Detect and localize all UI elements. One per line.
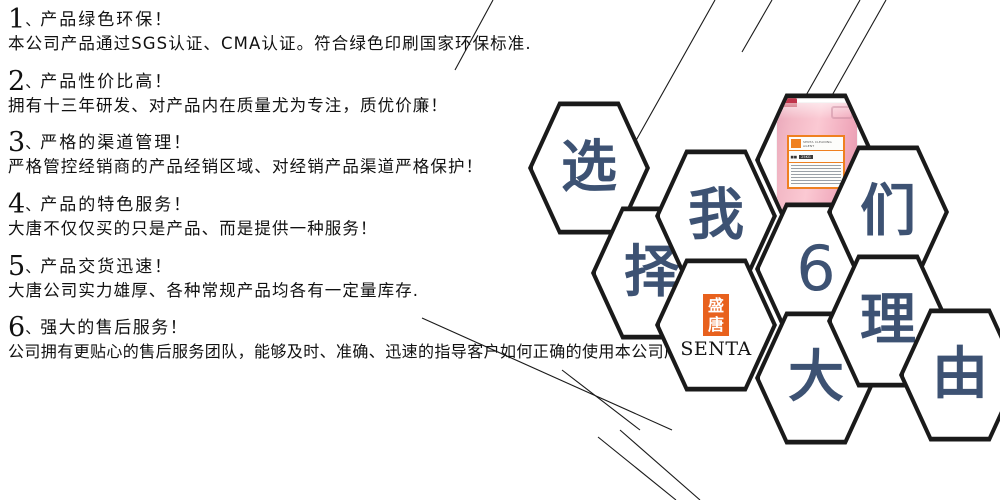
label-text-line <box>791 180 841 181</box>
feature-separator: 、 <box>25 258 40 276</box>
feature-title: 产品的特色服务！ <box>40 195 192 215</box>
hex-label: 由 <box>932 347 988 403</box>
feature-number: 5 <box>8 251 25 282</box>
poster-canvas: 1、产品绿色环保！ 本公司产品通过SGS认证、CMA认证。符合绿色印刷国家环保标… <box>0 0 1000 500</box>
hex-label: 我 <box>688 188 744 244</box>
logo-mark-char-top: 盛 <box>708 296 724 315</box>
product-label-header: SENTA CLEANING AGENT <box>789 137 843 151</box>
jerrycan-handle <box>831 106 853 119</box>
feature-item-1: 1、产品绿色环保！ 本公司产品通过SGS认证、CMA认证。符合绿色印刷国家环保标… <box>8 6 668 55</box>
hex-inner: 盛 唐 SENTA <box>660 260 773 390</box>
feature-body: 本公司产品通过SGS认证、CMA认证。符合绿色印刷国家环保标准. <box>8 34 668 55</box>
feature-title: 严格的渠道管理！ <box>40 133 192 153</box>
label-title-text: SENTA CLEANING AGENT <box>803 140 842 148</box>
feature-separator: 、 <box>25 134 40 152</box>
logo-mark-char-bottom: 唐 <box>708 315 724 334</box>
label-text-line <box>791 177 841 178</box>
label-text-line <box>791 168 841 169</box>
logo-wordmark: SENTA <box>680 338 751 360</box>
product-label-text-block <box>789 163 843 188</box>
label-text-line <box>791 171 841 172</box>
feature-separator: 、 <box>25 73 40 91</box>
label-spec-left: ■■ <box>791 155 798 159</box>
hex-label: 选 <box>561 140 617 196</box>
logo-mark-icon: 盛 唐 <box>703 294 729 336</box>
label-text-line <box>791 165 841 166</box>
feature-separator: 、 <box>25 319 40 337</box>
hex-label: 们 <box>860 184 916 240</box>
label-brand-swatch <box>791 139 802 148</box>
hex-label: 理 <box>860 293 916 349</box>
feature-number: 6 <box>8 312 25 343</box>
hexagon-cluster: 选 择 我 盛 唐 SENTA <box>500 80 1000 500</box>
product-label-spec-row: ■■ 25KG <box>789 151 843 163</box>
feature-number: 3 <box>8 127 25 158</box>
feature-separator: 、 <box>25 11 40 29</box>
label-text-line <box>791 183 841 184</box>
feature-title: 产品交货迅速！ <box>40 257 173 277</box>
label-weight: 25KG <box>799 155 812 159</box>
feature-title: 产品性价比高！ <box>40 72 173 92</box>
feature-separator: 、 <box>25 196 40 214</box>
hex-label: 大 <box>788 350 844 406</box>
senta-logo: 盛 唐 SENTA <box>680 294 751 360</box>
feature-number: 4 <box>8 189 25 220</box>
feature-title: 产品绿色环保！ <box>40 10 173 30</box>
feature-number: 2 <box>8 66 25 97</box>
product-label: SENTA CLEANING AGENT ■■ 25KG <box>787 135 845 189</box>
feature-number: 1 <box>8 4 25 35</box>
hex-label: 6 <box>796 238 835 300</box>
feature-title: 强大的售后服务！ <box>40 318 188 338</box>
feature-heading: 1、产品绿色环保！ <box>8 6 668 33</box>
label-text-line <box>791 174 841 175</box>
